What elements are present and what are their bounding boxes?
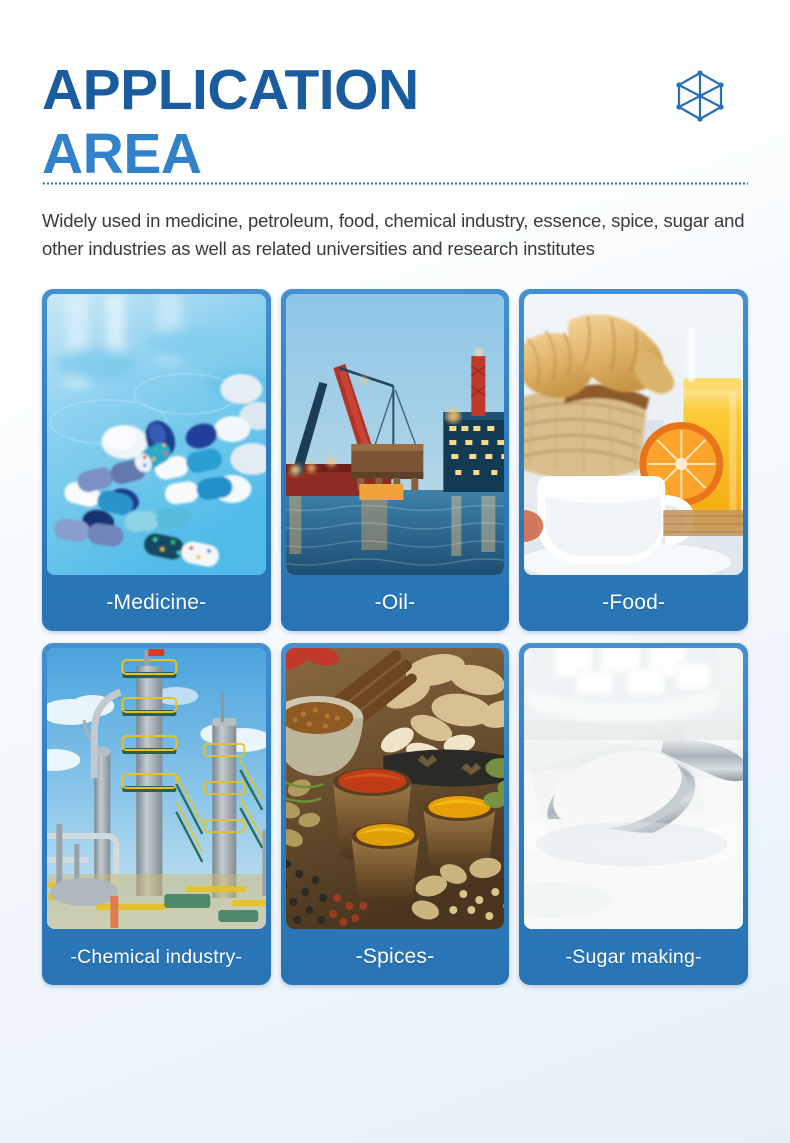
page-title: APPLICATION AREA: [42, 58, 748, 187]
card-label-chemical-industry: -Chemical industry-: [47, 929, 266, 985]
card-label-sugar-making: -Sugar making-: [524, 929, 743, 985]
refinery-towers-photo: [47, 648, 266, 929]
card-label-medicine: -Medicine-: [47, 575, 266, 631]
spices-bowls-photo: [286, 648, 505, 929]
intro-paragraph: Widely used in medicine, petroleum, food…: [42, 207, 748, 263]
sugar-spoon-photo: [524, 648, 743, 929]
application-card-spices[interactable]: -Spices-: [281, 643, 510, 985]
cube-hexagon-icon: [672, 68, 728, 124]
page-title-line-2: AREA: [42, 122, 748, 186]
application-area-page: APPLICATION AREA: [0, 0, 790, 1143]
offshore-oil-platform-photo: [286, 294, 505, 575]
application-card-grid: -Medicine-: [42, 289, 748, 985]
application-card-medicine[interactable]: -Medicine-: [42, 289, 271, 631]
application-card-oil[interactable]: -Oil-: [281, 289, 510, 631]
application-card-food[interactable]: -Food-: [519, 289, 748, 631]
application-card-chemical-industry[interactable]: -Chemical industry-: [42, 643, 271, 985]
card-label-food: -Food-: [524, 575, 743, 631]
breakfast-croissants-photo: [524, 294, 743, 575]
page-header: APPLICATION AREA: [42, 0, 748, 178]
page-title-line-1: APPLICATION: [42, 58, 748, 122]
pills-and-capsules-photo: [47, 294, 266, 575]
application-card-sugar-making[interactable]: -Sugar making-: [519, 643, 748, 985]
card-label-oil: -Oil-: [286, 575, 505, 631]
card-label-spices: -Spices-: [286, 929, 505, 985]
